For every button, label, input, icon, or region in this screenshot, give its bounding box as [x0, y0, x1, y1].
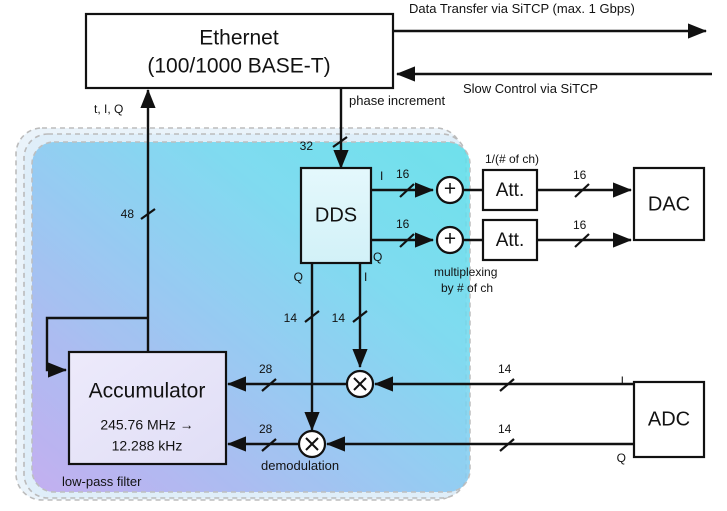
demodulation-label: demodulation — [261, 458, 339, 473]
dds-i-out-width: 16 — [396, 167, 410, 181]
attenuation-label: 1/(# of ch) — [485, 152, 539, 166]
accum-q-width: 28 — [259, 422, 273, 436]
adc-block[interactable]: ADC I Q — [617, 374, 704, 465]
mixer-i[interactable] — [347, 371, 373, 397]
dds-down-i-name: I — [364, 270, 367, 284]
dac-q-width: 16 — [573, 218, 587, 232]
adc-i-name: I — [621, 374, 624, 388]
adder-q[interactable]: + — [437, 227, 463, 253]
slow-control-label: Slow Control via SiTCP — [463, 81, 598, 96]
dds-q-down-width: 14 — [284, 311, 298, 325]
adder-i[interactable]: + — [437, 177, 463, 203]
dds-block[interactable]: DDS — [301, 168, 371, 263]
mixer-q[interactable] — [299, 431, 325, 457]
multiplexing-line2: by # of ch — [441, 281, 493, 295]
adder-q-label: + — [444, 228, 456, 251]
dac-label: DAC — [648, 193, 690, 215]
adc-q-width: 14 — [498, 422, 512, 436]
diagram-canvas: Ethernet (100/1000 BASE-T) Data Transfer… — [0, 0, 727, 511]
attenuator-i-block[interactable]: Att. — [483, 170, 537, 210]
ethernet-block[interactable]: Ethernet (100/1000 BASE-T) — [86, 14, 393, 88]
att-i-to-dac-link: 16 — [537, 168, 631, 197]
low-pass-filter-label: low-pass filter — [62, 474, 142, 489]
accumulator-rate-out: 12.288 kHz — [112, 438, 183, 454]
data-transfer-link: Data Transfer via SiTCP (max. 1 Gbps) — [393, 1, 706, 31]
phase-increment-width: 32 — [300, 139, 314, 153]
dds-down-q-name: Q — [294, 270, 303, 284]
attenuator-q-block[interactable]: Att. — [483, 220, 537, 260]
adc-label: ADC — [648, 408, 690, 430]
data-transfer-label: Data Transfer via SiTCP (max. 1 Gbps) — [409, 1, 635, 16]
t-i-q-label: t, I, Q — [94, 102, 123, 116]
attenuator-i-label: Att. — [496, 180, 525, 201]
att-q-to-dac-link: 16 — [537, 218, 631, 247]
dds-out-q-name: Q — [373, 250, 382, 264]
dds-i-down-width: 14 — [332, 311, 346, 325]
adder-i-label: + — [444, 178, 456, 201]
dds-label: DDS — [315, 204, 357, 226]
phase-increment-label: phase increment — [349, 93, 445, 108]
ethernet-subtitle: (100/1000 BASE-T) — [147, 55, 330, 78]
dac-block[interactable]: DAC — [634, 168, 704, 240]
dac-i-width: 16 — [573, 168, 587, 182]
accumulator-rate-in: 245.76 MHz → — [100, 417, 193, 433]
multiplexing-line1: multiplexing — [434, 265, 497, 279]
attenuator-q-label: Att. — [496, 230, 525, 251]
accumulator-label: Accumulator — [89, 380, 206, 403]
accum-i-width: 28 — [259, 362, 273, 376]
readback-width: 48 — [121, 207, 135, 221]
accumulator-block[interactable]: Accumulator 245.76 MHz → 12.288 kHz — [69, 352, 226, 464]
dds-q-out-width: 16 — [396, 217, 410, 231]
dds-out-i-name: I — [380, 169, 383, 183]
ethernet-title: Ethernet — [199, 27, 279, 50]
adc-i-width: 14 — [498, 362, 512, 376]
adc-q-name: Q — [617, 451, 626, 465]
block-diagram-svg: Ethernet (100/1000 BASE-T) Data Transfer… — [0, 0, 727, 511]
